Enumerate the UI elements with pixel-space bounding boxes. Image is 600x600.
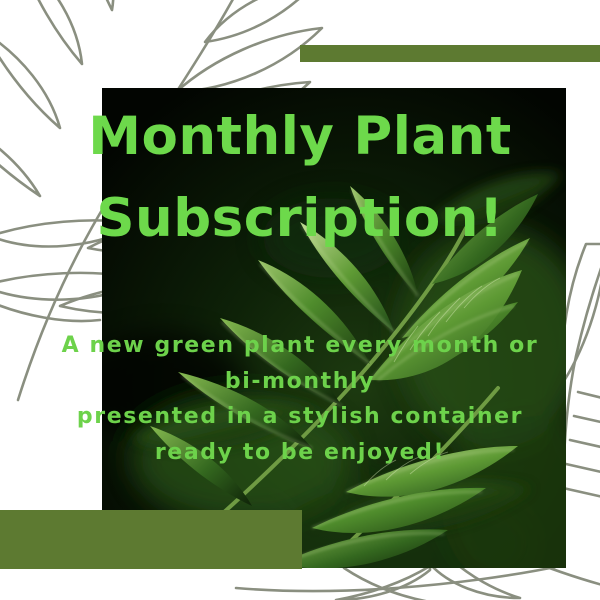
page-title: Monthly Plant Subscription! [0, 96, 600, 260]
poster-canvas: Monthly Plant Subscription! A new green … [0, 0, 600, 600]
subcopy-line-1: A new green plant every month or [0, 328, 600, 364]
headline-line-1: Monthly Plant [0, 96, 600, 178]
olive-bar-top [300, 45, 600, 62]
headline-line-2: Subscription! [0, 178, 600, 260]
subcopy-block: A new green plant every month or bi-mont… [0, 328, 600, 471]
subcopy-line-4: ready to be enjoyed! [0, 435, 600, 471]
olive-bar-bottom [0, 510, 302, 569]
subcopy-line-2: bi-monthly [0, 364, 600, 400]
subcopy-line-3: presented in a stylish container [0, 399, 600, 435]
